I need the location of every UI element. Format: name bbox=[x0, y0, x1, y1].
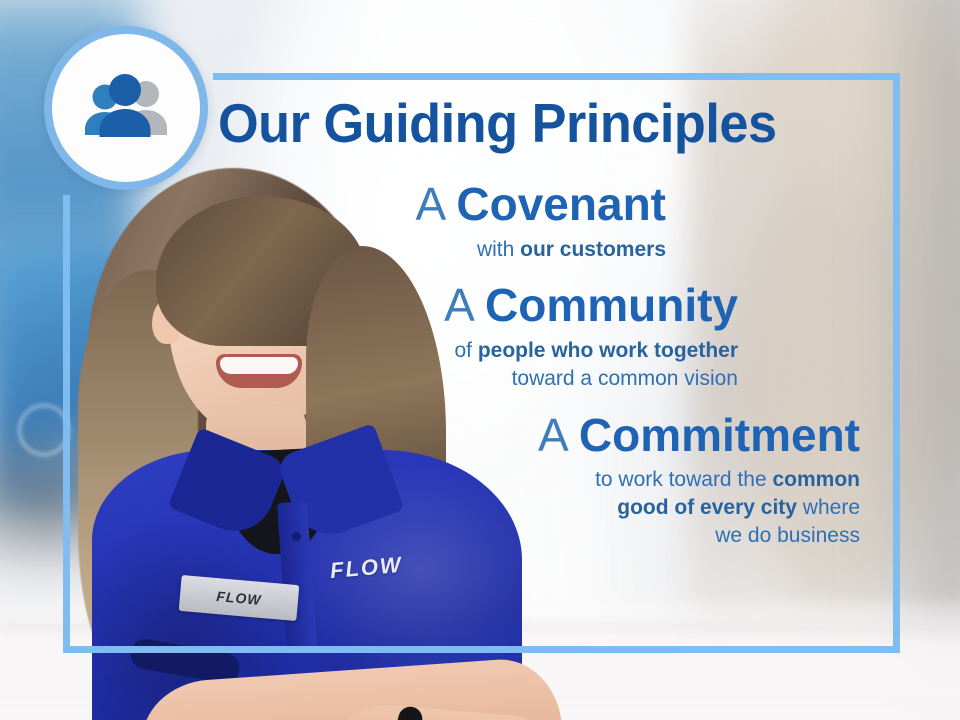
people-badge bbox=[44, 26, 208, 190]
principle-commitment-sub-bold-2: good of every city bbox=[617, 496, 797, 519]
smiling-mouth bbox=[216, 354, 302, 388]
principle-commitment-sub-regular-1: to work toward the bbox=[595, 468, 772, 491]
principle-covenant-noun: Covenant bbox=[456, 178, 666, 230]
principle-commitment-article: A bbox=[538, 409, 566, 461]
principle-covenant-sub-regular: with bbox=[477, 238, 520, 261]
principle-commitment-sub-bold-1: common bbox=[772, 468, 860, 491]
principle-covenant: A Covenant with our customers bbox=[300, 180, 878, 263]
principles-list: A Covenant with our customers A Communit… bbox=[300, 180, 878, 555]
promotional-graphic: FLOW FLOW Our Guiding Principles bbox=[0, 0, 960, 720]
principle-commitment: A Commitment to work toward the common g… bbox=[300, 411, 878, 550]
principle-commitment-sub-regular-2: where bbox=[797, 496, 860, 519]
principle-commitment-heading: A Commitment bbox=[300, 411, 860, 461]
principle-commitment-sub-regular-3: we do business bbox=[715, 524, 860, 547]
page-title: Our Guiding Principles bbox=[218, 96, 836, 151]
principle-community: A Community of people who work together … bbox=[300, 281, 878, 392]
name-badge-text: FLOW bbox=[216, 588, 262, 608]
principle-community-subtext: of people who work together toward a com… bbox=[300, 337, 738, 392]
principle-covenant-subtext: with our customers bbox=[300, 236, 666, 264]
principle-covenant-sub-bold: our customers bbox=[520, 238, 666, 261]
principle-community-sub-regular-2: toward a common vision bbox=[512, 367, 738, 390]
principle-commitment-noun: Commitment bbox=[579, 409, 860, 461]
principle-community-heading: A Community bbox=[300, 281, 738, 331]
principle-commitment-subtext: to work toward the common good of every … bbox=[300, 466, 860, 549]
principle-covenant-heading: A Covenant bbox=[300, 180, 666, 230]
principle-community-article: A bbox=[444, 279, 472, 331]
people-group-icon bbox=[78, 72, 174, 144]
teeth bbox=[220, 357, 298, 374]
principle-covenant-article: A bbox=[415, 178, 443, 230]
principle-community-sub-regular-1: of bbox=[454, 339, 477, 362]
principle-community-noun: Community bbox=[485, 279, 738, 331]
principle-community-sub-bold-1: people who work together bbox=[478, 339, 738, 362]
